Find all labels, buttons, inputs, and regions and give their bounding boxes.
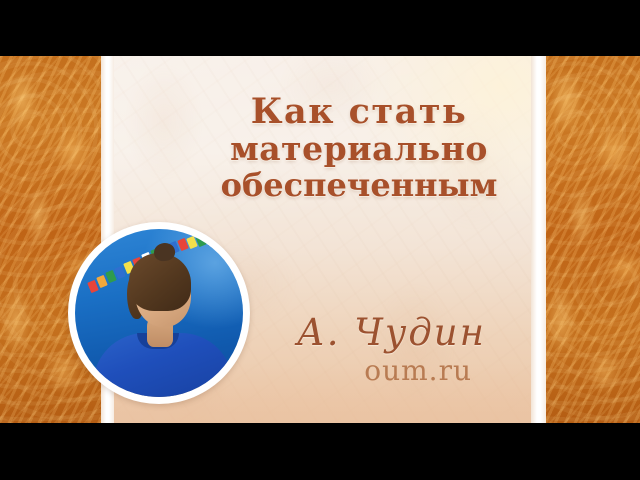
signature-block: А. Чудин oum.ru bbox=[274, 314, 504, 385]
title-line-3: обеспеченным bbox=[209, 169, 509, 202]
ornamental-border-right bbox=[546, 56, 640, 423]
author-signature: А. Чудин bbox=[274, 314, 504, 351]
slide-content: Как стать материально обеспеченным А. Чу… bbox=[0, 56, 640, 423]
portrait-avatar bbox=[68, 222, 250, 404]
video-slide-frame: Как стать материально обеспеченным А. Чу… bbox=[0, 0, 640, 480]
letterbox-bar-bottom bbox=[0, 423, 640, 480]
hair bbox=[129, 253, 191, 311]
slide-title: Как стать материально обеспеченным bbox=[209, 94, 509, 202]
separator-strip-right bbox=[531, 56, 546, 423]
letterbox-bar-top bbox=[0, 0, 640, 56]
title-line-1: Как стать bbox=[209, 94, 509, 130]
website-label: oum.ru bbox=[274, 357, 504, 385]
title-line-2: материально bbox=[209, 132, 509, 166]
portrait-photo bbox=[75, 229, 243, 397]
